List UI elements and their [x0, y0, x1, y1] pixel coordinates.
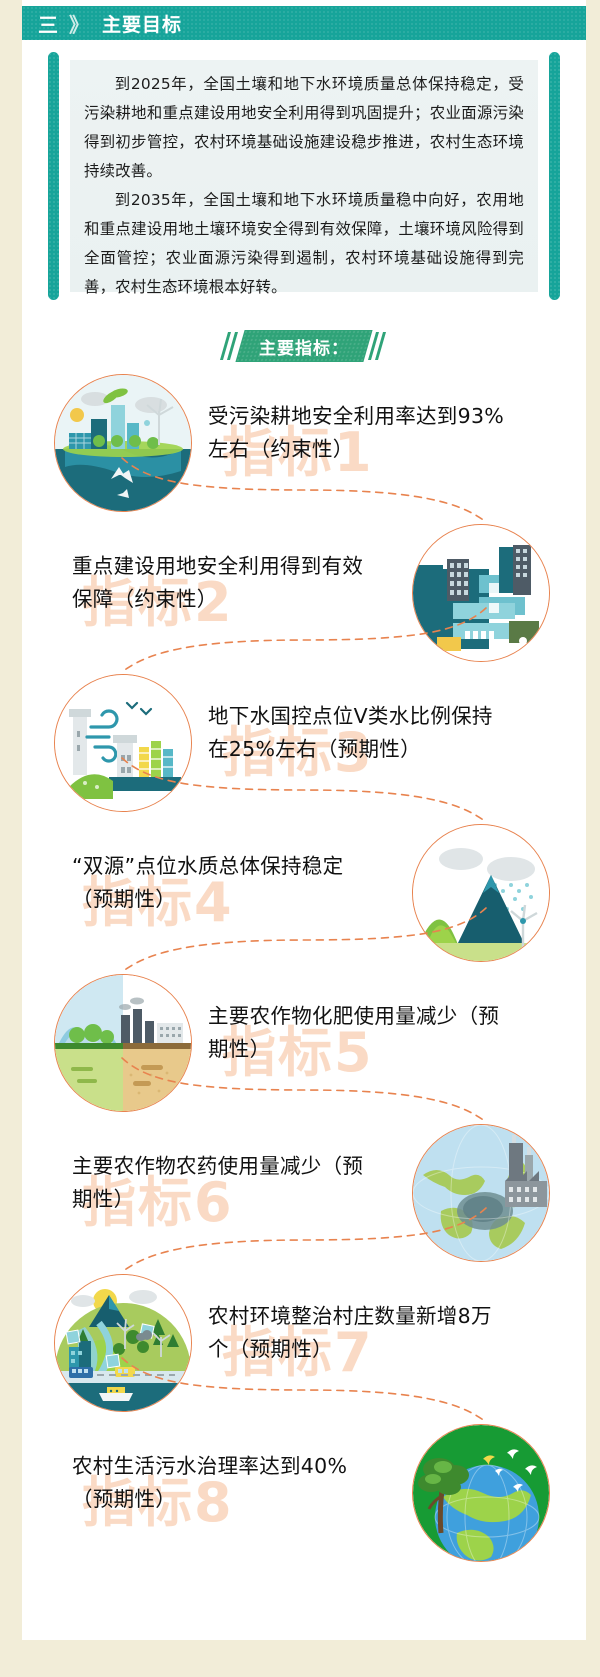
intro-paragraph-2035: 到2035年，全国土壤和地下水环境质量稳中向好，农用地和重点建设用地土壤环境安全… — [84, 186, 524, 302]
indicator-text: 地下水国控点位Ⅴ类水比例保持在25%左右（预期性） — [208, 700, 508, 766]
intro-panel: 到2025年，全国土壤和地下水环境质量总体保持稳定，受污染耕地和重点建设用地安全… — [70, 60, 538, 292]
indicator-text: 主要农作物化肥使用量减少（预期性） — [208, 1000, 508, 1066]
infographic-canvas: 三 》 主要目标 到2025年，全国土壤和地下水环境质量总体保持稳定，受污染耕地… — [22, 0, 586, 1640]
indicator-text: 受污染耕地安全利用率达到93%左右（约束性） — [208, 400, 508, 466]
page-root: 三 》 主要目标 到2025年，全国土壤和地下水环境质量总体保持稳定，受污染耕地… — [0, 0, 600, 1677]
indicator-text: 农村生活污水治理率达到40%（预期性） — [72, 1450, 372, 1516]
section-header-band: 三 》 主要目标 — [22, 6, 586, 40]
kpi-banner-label: 主要指标： — [240, 330, 368, 362]
page-title: 主要目标 — [102, 10, 182, 37]
chevron-right-icon: 》 — [69, 9, 86, 38]
indicator-text: 主要农作物农药使用量减少（预期性） — [72, 1150, 372, 1216]
kpi-banner: 主要指标： — [218, 330, 390, 362]
panel-accent-bar-left — [48, 52, 59, 300]
intro-paragraph-2025: 到2025年，全国土壤和地下水环境质量总体保持稳定，受污染耕地和重点建设用地安全… — [84, 70, 524, 186]
intro-panel-wrapper: 到2025年，全国土壤和地下水环境质量总体保持稳定，受污染耕地和重点建设用地安全… — [48, 52, 560, 300]
indicator-text: “双源”点位水质总体保持稳定（预期性） — [72, 850, 372, 916]
indicator-text: 农村环境整治村庄数量新增8万个（预期性） — [208, 1300, 508, 1366]
green-earth-tree-birds-icon — [412, 1424, 550, 1562]
indicator-text: 重点建设用地安全利用得到有效保障（约束性） — [72, 550, 372, 616]
section-number: 三 — [38, 9, 59, 38]
indicator-row: 指标8 农村生活污水治理率达到40 — [22, 1418, 586, 1568]
panel-accent-bar-right — [549, 52, 560, 300]
